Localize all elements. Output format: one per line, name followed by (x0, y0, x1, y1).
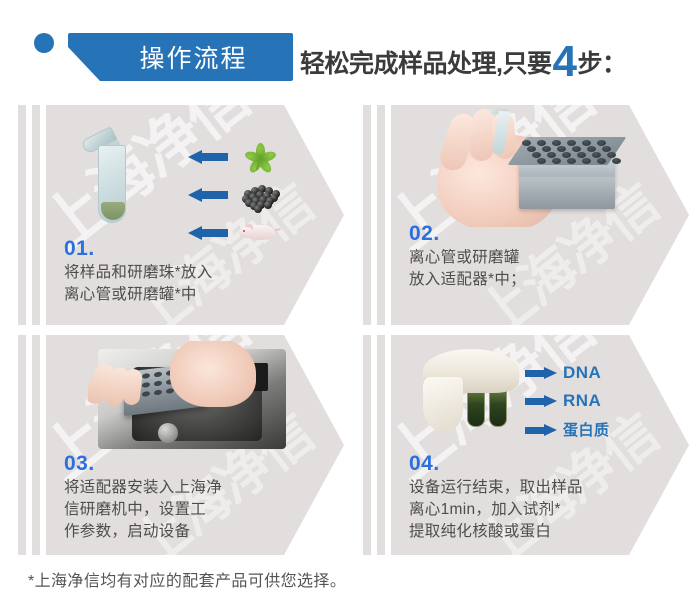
step-stripe-inner (32, 105, 40, 325)
output-label-protein: 蛋白质 (525, 419, 610, 440)
step-stripe-inner (377, 105, 385, 325)
step-panel-04: 上海净信 上海净信 DNA RNA (391, 335, 689, 555)
hand-icon (170, 341, 256, 407)
arrow-right-icon (525, 367, 557, 379)
gloved-hand-tubes-photo (415, 343, 535, 443)
step-panel-02: 上海净信 上海净信 02. 离心管或研磨罐 放入适配器*中； (391, 105, 689, 325)
centrifuge-tube-icon (98, 135, 128, 223)
step-03-artwork: 03. 将适配器安装入上海净 信研磨机中，设置工 作参数，启动设备 (46, 335, 344, 555)
step-card-04: 上海净信 上海净信 DNA RNA (363, 332, 693, 557)
footer-note-text: *上海净信均有对应的配套产品可供您选择。 (28, 567, 346, 591)
step-04-artwork: DNA RNA 蛋白质 04. 设备运行结束，取出样品 离心1min，加入试剂*… (391, 335, 689, 555)
step-caption-02: 离心管或研磨罐 放入适配器*中； (409, 247, 526, 291)
step-card-02: 上海净信 上海净信 02. 离心管或研磨罐 放入适配器*中； (363, 102, 693, 327)
arrow-left-icon (188, 226, 228, 239)
hand-adapter-photo (431, 109, 631, 227)
step-01-artwork: 01. 将样品和研磨珠*放入 离心管或研磨罐*中 (46, 105, 344, 325)
step-stripe-outer (363, 105, 371, 325)
steps-grid: 上海净信 上海净信 (0, 96, 700, 556)
step-number-03: 03. (64, 453, 95, 474)
tagline-suffix: 步： (577, 44, 626, 80)
arrow-right-icon (525, 424, 557, 436)
step-caption-04: 设备运行结束，取出样品 离心1min，加入试剂* 提取纯化核酸或蛋白 (409, 477, 583, 543)
leaf-icon (238, 141, 282, 171)
step-card-01: 上海净信 上海净信 (18, 102, 348, 327)
output-label-text: RNA (563, 391, 601, 411)
page-header: 操作流程 轻松完成样品处理,只要 4 步： (0, 0, 700, 96)
output-label-dna: DNA (525, 363, 601, 383)
step-panel-03: 上海净信 上海净信 03. 将适配器安装入上海净 信研磨机中，设置工 (46, 335, 344, 555)
tagline-prefix: 轻松完成样品处理,只要 (300, 44, 551, 80)
step-number-04: 04. (409, 453, 440, 474)
step-number-02: 02. (409, 223, 440, 244)
step-stripe-inner (377, 335, 385, 555)
step-stripe-outer (18, 105, 26, 325)
step-02-artwork: 02. 离心管或研磨罐 放入适配器*中； (391, 105, 689, 325)
grinder-knob (158, 423, 178, 443)
arrow-left-icon (188, 188, 228, 201)
glove-thumb (423, 377, 463, 431)
arrow-left-icon (188, 150, 228, 163)
sample-row-mouse (188, 219, 318, 245)
output-label-rna: RNA (525, 391, 601, 411)
adapter-holes (522, 140, 616, 164)
sample-row-beads (188, 181, 318, 207)
page-title: 轻松完成样品处理,只要 4 步： (300, 36, 626, 80)
tube-liquid (101, 202, 125, 220)
tube-body (98, 145, 126, 223)
header-tagline-group: 轻松完成样品处理,只要 4 步： (300, 34, 626, 82)
step-caption-03: 将适配器安装入上海净 信研磨机中，设置工 作参数，启动设备 (64, 477, 222, 543)
step-number-01: 01. (64, 238, 95, 259)
step-stripe-outer (18, 335, 26, 555)
grinder-install-photo (88, 341, 294, 449)
grinding-beads-icon (238, 179, 282, 209)
section-title-banner: 操作流程 (68, 33, 293, 81)
output-label-text: 蛋白质 (563, 419, 610, 440)
sample-row-leaf (188, 143, 318, 169)
step-stripe-inner (32, 335, 40, 555)
step-panel-01: 上海净信 上海净信 (46, 105, 344, 325)
step-card-03: 上海净信 上海净信 03. 将适配器安装入上海净 信研磨机中，设置工 (18, 332, 348, 557)
arrow-right-icon (525, 395, 557, 407)
step-stripe-outer (363, 335, 371, 555)
banner-dot-decoration (34, 33, 54, 53)
adapter-block-icon (519, 153, 615, 209)
output-label-text: DNA (563, 363, 601, 383)
mouse-icon (238, 217, 282, 247)
banner-title-text: 操作流程 (68, 33, 293, 81)
footer: *上海净信均有对应的配套产品可供您选择。 (28, 564, 628, 594)
tagline-step-count: 4 (552, 40, 576, 84)
step-caption-01: 将样品和研磨珠*放入 离心管或研磨罐*中 (64, 262, 213, 306)
